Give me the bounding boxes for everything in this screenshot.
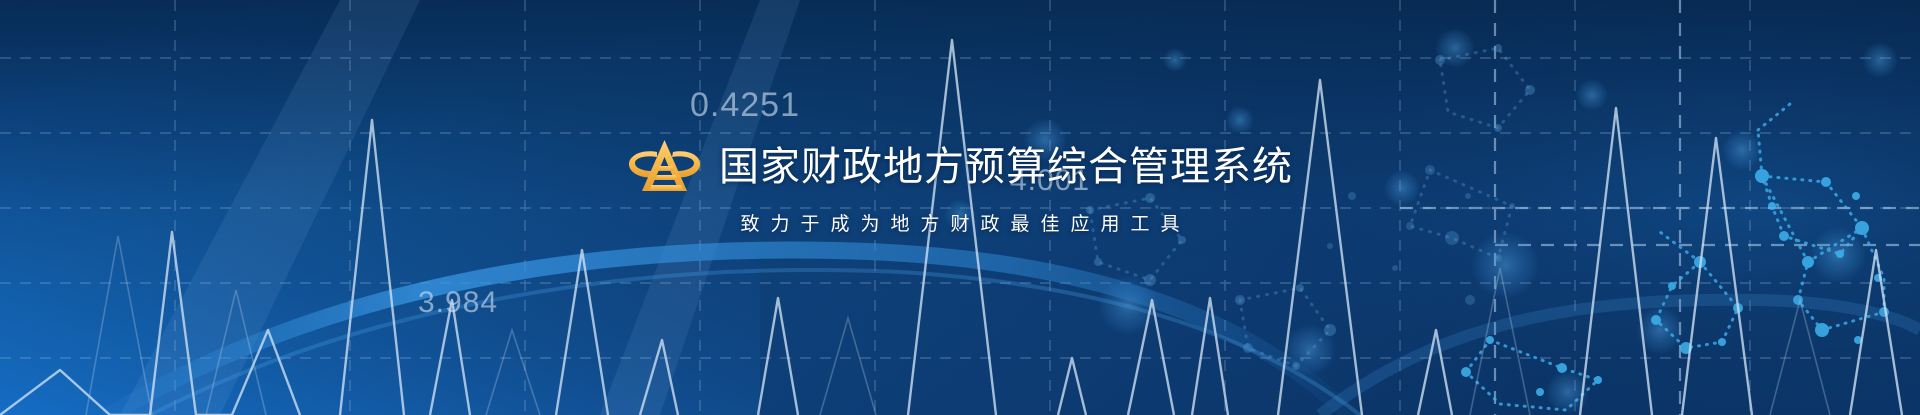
chart-annotation-1: 4.001 (1010, 166, 1090, 196)
banner-background-artwork (0, 0, 1920, 415)
chart-annotation-0: 0.4251 (690, 88, 800, 122)
chart-annotation-2: 3.984 (418, 288, 498, 318)
site-header-banner: 0.4251 4.001 3.984 (0, 0, 1920, 415)
